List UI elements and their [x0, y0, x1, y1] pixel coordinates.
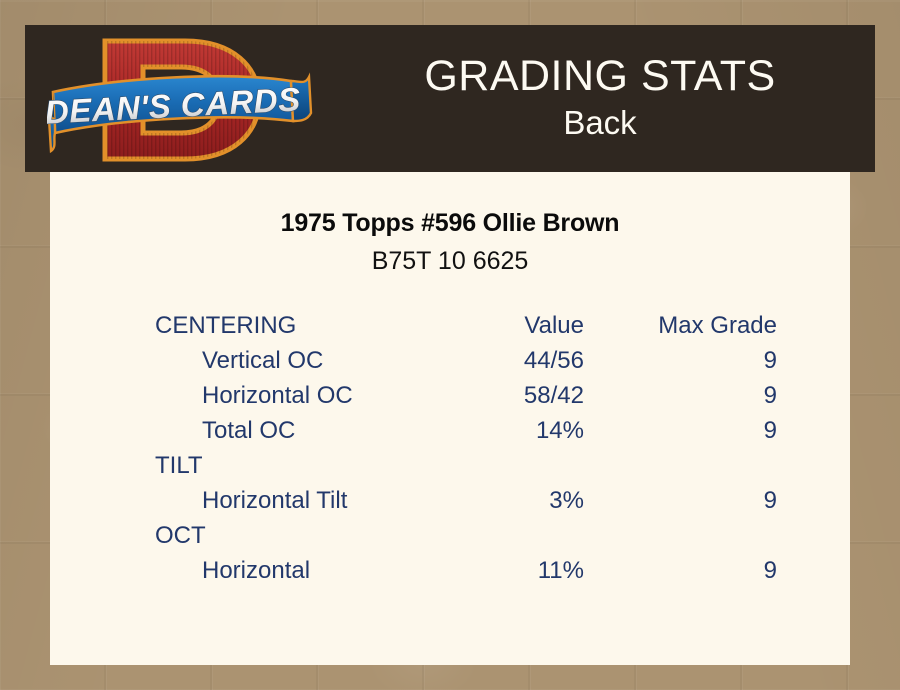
- section-title: OCT: [50, 518, 850, 553]
- stats-table-head: CENTERING Value Max Grade: [50, 308, 850, 343]
- section-header-row: TILT: [50, 448, 850, 483]
- column-header-max-grade: Max Grade: [626, 308, 850, 343]
- table-row: Horizontal OC58/429: [50, 378, 850, 413]
- column-header-value: Value: [413, 308, 626, 343]
- stat-max-grade: 9: [626, 343, 850, 378]
- page-subtitle: Back: [563, 102, 636, 144]
- stat-max-grade: 9: [626, 378, 850, 413]
- stat-label: Total OC: [50, 413, 413, 448]
- stat-max-grade: 9: [626, 413, 850, 448]
- stat-label: Horizontal Tilt: [50, 483, 413, 518]
- card-serial-number: B75T 10 6625: [50, 238, 850, 276]
- stat-value: 3%: [413, 483, 626, 518]
- table-row: Horizontal Tilt3%9: [50, 483, 850, 518]
- column-header-centering: CENTERING: [50, 308, 413, 343]
- stat-max-grade: 9: [626, 553, 850, 588]
- section-title: TILT: [50, 448, 850, 483]
- stat-value: 14%: [413, 413, 626, 448]
- stats-table-body: Vertical OC44/569Horizontal OC58/429Tota…: [50, 343, 850, 588]
- deans-cards-logo: DEAN'S CARDS: [47, 29, 317, 171]
- header-title-block: GRADING STATS Back: [325, 25, 875, 172]
- stat-value: 58/42: [413, 378, 626, 413]
- stat-max-grade: 9: [626, 483, 850, 518]
- header-band: DEAN'S CARDS GRADING STATS Back: [25, 25, 875, 172]
- stat-value: 11%: [413, 553, 626, 588]
- table-row: Horizontal11%9: [50, 553, 850, 588]
- stat-label: Horizontal OC: [50, 378, 413, 413]
- section-header-row: OCT: [50, 518, 850, 553]
- stat-label: Vertical OC: [50, 343, 413, 378]
- table-row: Vertical OC44/569: [50, 343, 850, 378]
- table-header-row: CENTERING Value Max Grade: [50, 308, 850, 343]
- content-panel: 1975 Topps #596 Ollie Brown B75T 10 6625…: [50, 172, 850, 665]
- page-title: GRADING STATS: [424, 51, 775, 101]
- table-row: Total OC14%9: [50, 413, 850, 448]
- grading-stats-table: CENTERING Value Max Grade Vertical OC44/…: [50, 308, 850, 588]
- stat-label: Horizontal: [50, 553, 413, 588]
- card-title: 1975 Topps #596 Ollie Brown: [50, 172, 850, 238]
- stat-value: 44/56: [413, 343, 626, 378]
